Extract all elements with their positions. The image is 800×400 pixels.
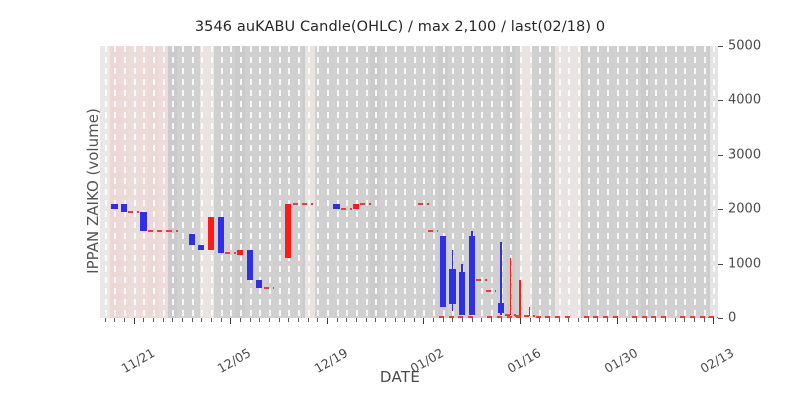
plot-area bbox=[100, 46, 718, 318]
x-axis-tick-minor bbox=[221, 318, 222, 322]
chart-figure: 3546 auKABU Candle(OHLC) / max 2,100 / l… bbox=[0, 0, 800, 400]
x-axis-tick-minor bbox=[646, 318, 647, 322]
x-axis-tick-minor bbox=[665, 318, 666, 322]
candle-body bbox=[218, 217, 224, 252]
x-axis-tick-minor bbox=[124, 318, 125, 322]
gridline bbox=[356, 46, 358, 318]
gridline bbox=[588, 46, 590, 318]
x-axis-tick-minor bbox=[684, 318, 685, 322]
gridline bbox=[578, 46, 580, 318]
x-axis-tick-minor bbox=[481, 318, 482, 322]
gridline bbox=[549, 46, 551, 318]
candle-body bbox=[208, 217, 214, 250]
x-axis-tick-minor bbox=[308, 318, 309, 322]
x-axis-tick-minor bbox=[395, 318, 396, 322]
x-axis-tick-label: 01/16 bbox=[505, 345, 544, 376]
x-axis-tick-minor bbox=[172, 318, 173, 322]
x-axis-tick-label: 01/30 bbox=[601, 345, 640, 376]
gridline bbox=[675, 46, 677, 318]
gridline bbox=[259, 46, 261, 318]
gridline bbox=[163, 46, 165, 318]
candle-flat-marker bbox=[418, 203, 429, 205]
x-axis-tick-minor bbox=[510, 318, 511, 322]
gridline bbox=[182, 46, 184, 318]
gridline bbox=[134, 46, 136, 318]
gridline bbox=[211, 46, 213, 318]
y-axis-tick bbox=[718, 209, 723, 210]
gridline bbox=[684, 46, 686, 318]
x-axis-tick-minor bbox=[114, 318, 115, 322]
gridline bbox=[317, 46, 319, 318]
gridline bbox=[530, 46, 532, 318]
x-axis-tick-minor bbox=[259, 318, 260, 322]
candle-flat-marker bbox=[341, 208, 352, 210]
gridline bbox=[491, 46, 493, 318]
x-axis-tick-major bbox=[617, 318, 618, 324]
gridline bbox=[105, 46, 107, 318]
gridline bbox=[655, 46, 657, 318]
gridline bbox=[704, 46, 706, 318]
candle-body bbox=[237, 250, 243, 255]
gridline bbox=[539, 46, 541, 318]
x-axis-tick-minor bbox=[491, 318, 492, 322]
gridline bbox=[404, 46, 406, 318]
y-axis-tick bbox=[718, 46, 723, 47]
y-axis-tick-label: 3000 bbox=[728, 147, 761, 162]
candle-flat-marker bbox=[264, 287, 275, 289]
gridline bbox=[597, 46, 599, 318]
x-axis-tick-minor bbox=[404, 318, 405, 322]
x-axis-tick-minor bbox=[298, 318, 299, 322]
candle-flat-marker bbox=[128, 211, 139, 213]
x-axis-tick-minor bbox=[143, 318, 144, 322]
candle-flat-marker bbox=[476, 279, 487, 281]
candle-wick bbox=[519, 280, 521, 316]
candle-body bbox=[353, 204, 359, 209]
gridline bbox=[559, 46, 561, 318]
x-axis-tick-label: 01/02 bbox=[408, 345, 447, 376]
candle-flat-marker bbox=[360, 203, 371, 205]
gridline bbox=[385, 46, 387, 318]
gridline bbox=[172, 46, 174, 318]
gridline bbox=[221, 46, 223, 318]
gridline bbox=[143, 46, 145, 318]
x-axis-tick-minor bbox=[201, 318, 202, 322]
x-axis-tick-minor bbox=[337, 318, 338, 322]
x-axis-tick-minor bbox=[588, 318, 589, 322]
x-axis-tick-minor bbox=[192, 318, 193, 322]
x-axis-tick-label: 12/05 bbox=[215, 345, 254, 376]
candle-body bbox=[459, 272, 465, 315]
gridline bbox=[327, 46, 329, 318]
x-axis-tick-minor bbox=[269, 318, 270, 322]
y-axis-tick bbox=[718, 100, 723, 101]
y-axis-tick bbox=[718, 155, 723, 156]
x-axis-tick-minor bbox=[568, 318, 569, 322]
background-band-light bbox=[305, 46, 315, 318]
candle-body bbox=[256, 280, 262, 288]
x-axis-tick-minor bbox=[279, 318, 280, 322]
x-axis-tick-label: 12/19 bbox=[312, 345, 351, 376]
x-axis-tick-minor bbox=[288, 318, 289, 322]
candle-body bbox=[440, 236, 446, 307]
y-axis-tick-label: 4000 bbox=[728, 93, 761, 108]
x-axis-tick-minor bbox=[366, 318, 367, 322]
candle-body bbox=[111, 204, 117, 209]
x-axis-tick-minor bbox=[105, 318, 106, 322]
x-axis-tick-minor bbox=[163, 318, 164, 322]
gridline bbox=[694, 46, 696, 318]
candle-body bbox=[189, 234, 195, 245]
gridline bbox=[230, 46, 232, 318]
x-axis-tick-minor bbox=[153, 318, 154, 322]
gridline bbox=[201, 46, 203, 318]
y-axis-tick-label: 5000 bbox=[728, 39, 761, 54]
x-axis: 11/2112/0512/1901/0201/1601/3002/13 bbox=[100, 318, 718, 378]
x-axis-tick-minor bbox=[501, 318, 502, 322]
y-axis: 010002000300040005000 bbox=[718, 46, 798, 318]
x-axis-tick-minor bbox=[704, 318, 705, 322]
x-axis-tick-minor bbox=[655, 318, 656, 322]
y-axis-tick-label: 2000 bbox=[728, 202, 761, 217]
x-axis-tick-minor bbox=[559, 318, 560, 322]
gridline bbox=[279, 46, 281, 318]
x-axis-tick-major bbox=[327, 318, 328, 324]
x-axis-tick-label: 11/21 bbox=[118, 345, 157, 376]
gridline bbox=[414, 46, 416, 318]
gridline bbox=[298, 46, 300, 318]
x-axis-tick-minor bbox=[597, 318, 598, 322]
x-axis-tick-minor bbox=[433, 318, 434, 322]
candle-body bbox=[247, 250, 253, 280]
x-axis-tick-minor bbox=[539, 318, 540, 322]
candle-body bbox=[140, 212, 146, 231]
y-axis-tick-label: 0 bbox=[728, 311, 736, 326]
candle-body bbox=[333, 204, 339, 209]
gridline bbox=[124, 46, 126, 318]
gridline bbox=[375, 46, 377, 318]
candle-body bbox=[198, 245, 204, 250]
x-axis-tick-minor bbox=[452, 318, 453, 322]
gridline bbox=[288, 46, 290, 318]
gridline bbox=[626, 46, 628, 318]
x-axis-tick-minor bbox=[462, 318, 463, 322]
x-axis-tick-minor bbox=[414, 318, 415, 322]
x-axis-tick-minor bbox=[472, 318, 473, 322]
gridline bbox=[192, 46, 194, 318]
gridline bbox=[346, 46, 348, 318]
candle-body bbox=[121, 204, 127, 212]
gridline bbox=[713, 46, 715, 318]
candle-body bbox=[498, 303, 504, 313]
x-axis-tick-minor bbox=[675, 318, 676, 322]
candle-wick bbox=[510, 258, 512, 315]
gridline bbox=[665, 46, 667, 318]
x-axis-tick-minor bbox=[375, 318, 376, 322]
chart-title: 3546 auKABU Candle(OHLC) / max 2,100 / l… bbox=[0, 19, 800, 35]
gridline bbox=[114, 46, 116, 318]
x-axis-tick-minor bbox=[250, 318, 251, 322]
gridline bbox=[481, 46, 483, 318]
candle-flat-marker bbox=[225, 252, 236, 254]
gridline bbox=[433, 46, 435, 318]
candle-flat-marker bbox=[167, 230, 178, 232]
candle-body bbox=[469, 236, 475, 314]
x-axis-tick-minor bbox=[385, 318, 386, 322]
x-axis-tick-minor bbox=[346, 318, 347, 322]
x-axis-tick-minor bbox=[356, 318, 357, 322]
x-axis-tick-minor bbox=[443, 318, 444, 322]
x-axis-tick-minor bbox=[317, 318, 318, 322]
x-axis-tick-major bbox=[713, 318, 714, 324]
candle-body bbox=[285, 204, 291, 258]
x-axis-tick-minor bbox=[240, 318, 241, 322]
candle-flat-marker bbox=[302, 203, 313, 205]
gridline bbox=[636, 46, 638, 318]
gridline bbox=[395, 46, 397, 318]
x-axis-tick-minor bbox=[694, 318, 695, 322]
x-axis-tick-minor bbox=[182, 318, 183, 322]
gridline bbox=[269, 46, 271, 318]
gridline bbox=[240, 46, 242, 318]
gridline bbox=[617, 46, 619, 318]
x-axis-tick-minor bbox=[211, 318, 212, 322]
y-axis-tick-label: 1000 bbox=[728, 256, 761, 271]
y-axis-tick bbox=[718, 264, 723, 265]
x-axis-tick-major bbox=[230, 318, 231, 324]
gridline bbox=[153, 46, 155, 318]
x-axis-tick-minor bbox=[636, 318, 637, 322]
x-axis-tick-minor bbox=[607, 318, 608, 322]
x-axis-tick-minor bbox=[626, 318, 627, 322]
gridline bbox=[607, 46, 609, 318]
gridline bbox=[308, 46, 310, 318]
gridline bbox=[646, 46, 648, 318]
x-axis-tick-minor bbox=[530, 318, 531, 322]
gridline bbox=[423, 46, 425, 318]
x-axis-tick-major bbox=[423, 318, 424, 324]
gridline bbox=[520, 46, 522, 318]
x-axis-tick-major bbox=[520, 318, 521, 324]
candle-flat-marker bbox=[428, 230, 439, 232]
x-axis-tick-minor bbox=[549, 318, 550, 322]
gridline bbox=[337, 46, 339, 318]
x-axis-tick-minor bbox=[578, 318, 579, 322]
gridline bbox=[568, 46, 570, 318]
gridline bbox=[366, 46, 368, 318]
candle-flat-marker bbox=[486, 290, 497, 292]
x-axis-tick-major bbox=[134, 318, 135, 324]
y-axis-tick bbox=[718, 318, 723, 319]
candle-body bbox=[449, 269, 455, 304]
